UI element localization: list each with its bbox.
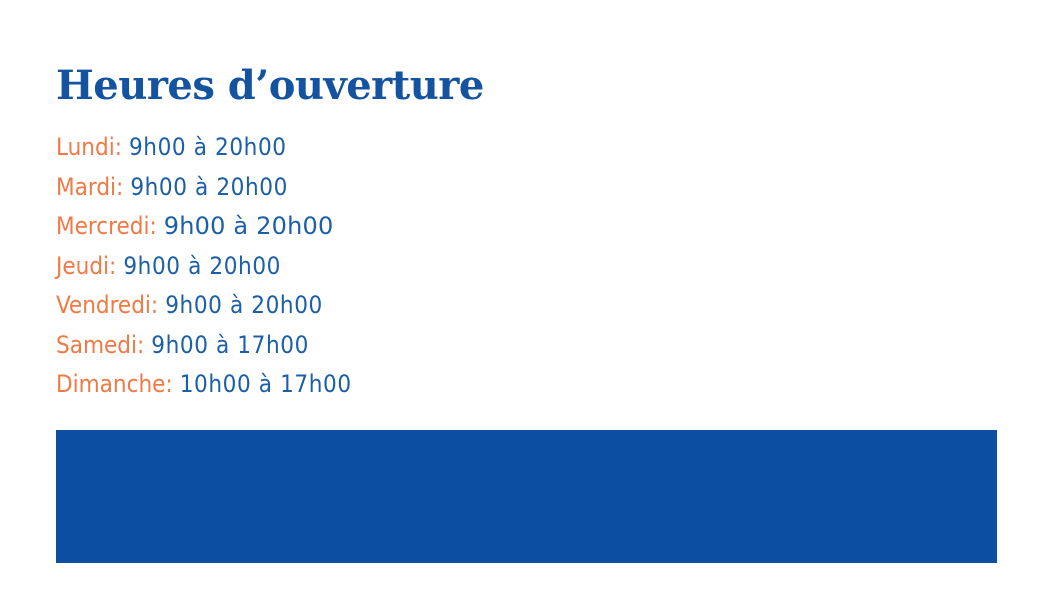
time-value-vendredi: 9h00 à 20h00 [165,290,323,320]
time-value-mercredi: 9h00 à 20h00 [164,211,334,241]
day-label-samedi: Samedi: [56,330,144,360]
time-value-samedi: 9h00 à 17h00 [151,330,309,360]
list-item: Dimanche: 10h00 à 17h00 [56,369,956,409]
day-label-vendredi: Vendredi: [56,290,158,320]
day-label-dimanche: Dimanche: [56,369,173,399]
page-title: Heures d’ouverture [56,62,484,110]
time-value-jeudi: 9h00 à 20h00 [123,251,281,281]
time-value-mardi: 9h00 à 20h00 [130,172,288,202]
time-value-lundi: 9h00 à 20h00 [129,132,287,162]
day-label-lundi: Lundi: [56,132,122,162]
list-item: Lundi: 9h00 à 20h00 [56,132,956,172]
list-item: Mardi: 9h00 à 20h00 [56,172,956,212]
list-item: Mercredi: 9h00 à 20h00 [56,211,956,251]
blue-content-placeholder-block [56,430,997,563]
day-label-mardi: Mardi: [56,172,123,202]
list-item: Vendredi: 9h00 à 20h00 [56,290,956,330]
slide-canvas: Heures d’ouverture Lundi: 9h00 à 20h00 M… [0,0,1050,600]
list-item: Samedi: 9h00 à 17h00 [56,330,956,370]
list-item: Jeudi: 9h00 à 20h00 [56,251,956,291]
day-label-jeudi: Jeudi: [56,251,116,281]
day-label-mercredi: Mercredi: [56,211,157,241]
opening-hours-list: Lundi: 9h00 à 20h00 Mardi: 9h00 à 20h00 … [56,132,956,409]
time-value-dimanche: 10h00 à 17h00 [180,369,352,399]
